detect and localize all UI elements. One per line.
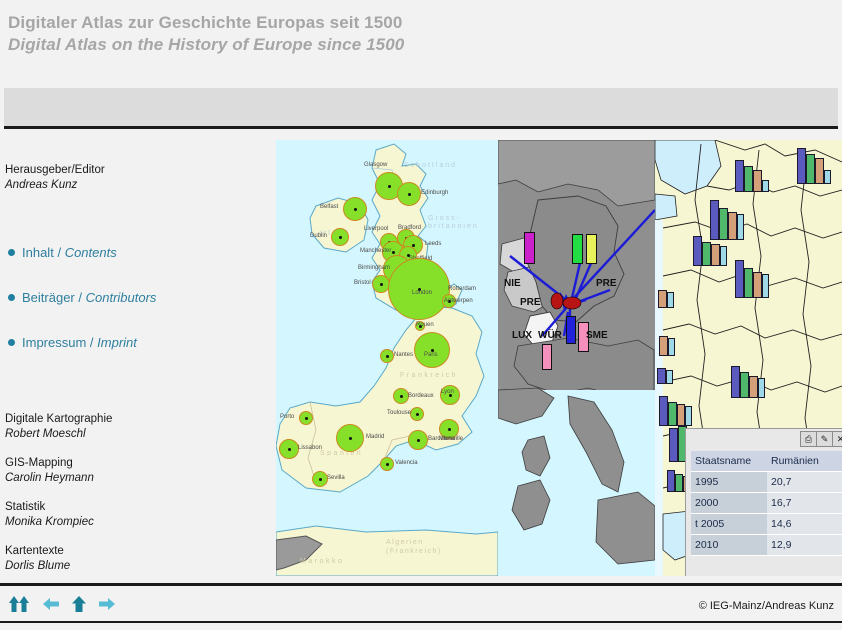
sidebar-item-contributors-sep: / (78, 290, 82, 305)
table-cell-year: 2010 (691, 535, 767, 556)
city-label-antwerpen: Antwerpen (444, 298, 473, 304)
credit-statistics: Statistik Monika Krompiec (5, 500, 94, 530)
table-col-header-value: Rumänien (767, 451, 842, 472)
map-stage[interactable]: Schottland Gross-britannien Irland Frank… (276, 140, 842, 576)
sidebar-item-imprint-label-en: Imprint (97, 335, 137, 350)
flow-flag-pink-2[interactable] (542, 344, 552, 370)
city-label-london: London (412, 290, 432, 296)
region-code-pre-east: PRE (596, 278, 617, 289)
table-header-row: Staatsname Rumänien (691, 451, 842, 472)
region-label-scotland: Schottland (404, 162, 457, 169)
region-code-wur: WÜR (538, 330, 562, 341)
city-symbol-sevilla[interactable] (312, 471, 328, 487)
city-symbol-nantes[interactable] (380, 349, 394, 363)
city-symbol-toulouse[interactable] (410, 407, 424, 421)
bar-cluster-9[interactable] (731, 366, 765, 398)
sidebar-item-imprint-sep: / (90, 335, 94, 350)
region-code-pre-west: PRE (520, 297, 541, 308)
sidebar-item-imprint-label-de: Impressum (22, 335, 86, 350)
credit-role: Statistik (5, 500, 94, 515)
credit-name: Andreas Kunz (5, 178, 105, 193)
credit-gis-mapping: GIS-Mapping Carolin Heymann (5, 456, 94, 486)
table-cell-value: 12,9 (767, 535, 842, 556)
credit-role: Kartentexte (5, 544, 70, 559)
page-title-en: Digital Atlas on the History of Europe s… (8, 35, 404, 55)
statistics-table: Staatsname Rumänien 1995 20,7 2000 16,7 … (691, 451, 842, 556)
city-label-toulouse: Toulouse (387, 410, 411, 416)
home-double-up-arrow-icon[interactable] (8, 594, 32, 614)
map-layer-west-europe[interactable]: Schottland Gross-britannien Irland Frank… (276, 140, 498, 576)
city-label-bordeaux: Bordeaux (408, 393, 434, 399)
table-row[interactable]: 1995 20,7 (691, 472, 842, 493)
table-cell-value: 16,7 (767, 493, 842, 514)
footer-bottom-rule (0, 621, 842, 623)
bar-cluster-6[interactable] (658, 290, 674, 308)
sidebar-item-contributors-label-en: Contributors (86, 290, 157, 305)
region-label-great-britain: Gross-britannien (428, 215, 468, 231)
city-label-rotterdam: Rotterdam (448, 286, 476, 292)
flow-flag-magenta[interactable] (524, 232, 535, 264)
table-row[interactable]: t 2005 14,6 (691, 514, 842, 535)
back-left-arrow-icon[interactable] (41, 594, 61, 614)
bullet-dot-icon (8, 249, 15, 256)
sidebar-item-contents-label-de: Inhalt (22, 245, 54, 260)
table-cell-year: t 2005 (691, 514, 767, 535)
city-label-paris: Paris (424, 352, 438, 358)
bullet-dot-icon (8, 339, 15, 346)
city-symbol-london[interactable] (388, 258, 450, 320)
credit-editor: Herausgeber/Editor Andreas Kunz (5, 163, 105, 193)
region-label-spain: Spanien (320, 450, 363, 457)
sidebar-item-contents-label-en: Contents (65, 245, 117, 260)
flow-flag-blue[interactable] (566, 316, 576, 344)
city-label-manchester: Manchester (360, 248, 391, 254)
city-symbol-barcelona[interactable] (408, 430, 428, 450)
city-symbol-lissabon[interactable] (279, 439, 299, 459)
credit-name: Carolin Heymann (5, 471, 94, 486)
bar-cluster-2[interactable] (797, 148, 831, 184)
table-row[interactable]: 2010 12,9 (691, 535, 842, 556)
city-label-birmingham: Birmingham (358, 265, 390, 271)
credit-role: Digitale Kartographie (5, 412, 112, 427)
sidebar-item-contents[interactable]: Inhalt / Contents (8, 245, 117, 260)
print-icon[interactable]: ⎙ (800, 431, 817, 447)
city-symbol-valencia[interactable] (380, 457, 394, 471)
bar-cluster-4[interactable] (693, 236, 727, 266)
city-label-bradford: Bradford (398, 225, 421, 231)
city-symbol-madrid[interactable] (336, 424, 364, 452)
copyright-text: © IEG-Mainz/Andreas Kunz (699, 600, 834, 612)
forward-right-arrow-icon[interactable] (97, 594, 117, 614)
credit-cartography: Digitale Kartographie Robert Moeschl (5, 412, 112, 442)
sidebar-item-contributors-label-de: Beiträger (22, 290, 75, 305)
flow-flag-green[interactable] (572, 234, 583, 264)
table-cell-value: 20,7 (767, 472, 842, 493)
credit-map-texts: Kartentexte Dorlis Blume (5, 544, 70, 574)
city-label-lissabon: Lissabon (298, 445, 322, 451)
table-cell-value: 14,6 (767, 514, 842, 535)
city-symbol-lyon[interactable] (440, 385, 460, 405)
city-label-dublin: Dublin (310, 233, 327, 239)
city-symbol-bordeaux[interactable] (393, 388, 409, 404)
city-symbol-edinburgh[interactable] (397, 182, 421, 206)
credit-name: Monika Krompiec (5, 515, 94, 530)
city-symbol-paris[interactable] (414, 332, 450, 368)
city-label-leeds: Leeds (425, 241, 441, 247)
credit-name: Dorlis Blume (5, 559, 70, 574)
city-label-edinburgh: Edinburgh (421, 190, 448, 196)
sidebar: Herausgeber/Editor Andreas Kunz Inhalt /… (0, 131, 276, 580)
data-table-popup[interactable]: ⎙ ✎ ✕ Staatsname Rumänien 1995 20,7 2000… (685, 428, 842, 576)
city-label-lyon: Lyon (441, 389, 454, 395)
central-europe-basemap (498, 140, 655, 576)
credit-role: GIS-Mapping (5, 456, 94, 471)
city-label-rouen: Rouen (416, 322, 434, 328)
pin-icon[interactable]: ✎ (816, 431, 833, 447)
credit-name: Robert Moeschl (5, 427, 112, 442)
table-col-header-key: Staatsname (691, 451, 767, 472)
header-gray-band (4, 88, 838, 129)
map-layer-central-europe-flows[interactable]: NIE PRE LUX PRE SME WÜR (498, 140, 655, 576)
table-cell-year: 2000 (691, 493, 767, 514)
city-label-liverpool: Liverpool (364, 226, 388, 232)
popup-toolbar[interactable]: ⎙ ✎ ✕ (801, 431, 842, 447)
footer-navigation[interactable] (8, 594, 117, 614)
bullet-dot-icon (8, 294, 15, 301)
city-symbol-belfast[interactable] (343, 197, 367, 221)
city-symbol-dublin[interactable] (331, 228, 349, 246)
region-code-lux: LUX (512, 330, 532, 341)
region-label-france: Frankreich (400, 372, 458, 379)
bar-cluster-8[interactable] (657, 368, 673, 384)
bar-cluster-10[interactable] (659, 396, 692, 426)
close-icon[interactable]: ✕ (832, 431, 842, 447)
sidebar-item-imprint[interactable]: Impressum / Imprint (8, 335, 137, 350)
bar-cluster-5[interactable] (735, 260, 769, 298)
region-label-algeria: Algerien (Frankreich) (386, 538, 452, 556)
bar-cluster-1[interactable] (735, 160, 769, 192)
city-label-sevilla: Sevilla (327, 475, 345, 481)
sidebar-item-contents-sep: / (57, 245, 61, 260)
credit-role: Herausgeber/Editor (5, 163, 105, 178)
city-symbol-porto[interactable] (299, 411, 313, 425)
city-label-porto: Porto (280, 414, 294, 420)
up-arrow-icon[interactable] (70, 594, 88, 614)
city-label-belfast: Belfast (320, 204, 338, 210)
flow-flag-yellow[interactable] (586, 234, 597, 264)
page-title-de: Digitaler Atlas zur Geschichte Europas s… (8, 13, 402, 33)
table-cell-year: 1995 (691, 472, 767, 493)
sidebar-item-contributors[interactable]: Beiträger / Contributors (8, 290, 156, 305)
city-label-barcelona: Barcelona (428, 436, 455, 442)
page-header: Digitaler Atlas zur Geschichte Europas s… (0, 0, 842, 88)
region-code-sme: SME (586, 330, 608, 341)
table-row[interactable]: 2000 16,7 (691, 493, 842, 514)
bar-cluster-7[interactable] (659, 336, 675, 356)
city-label-valencia: Valencia (395, 460, 418, 466)
city-label-bristol: Bristol (354, 280, 371, 286)
bar-cluster-3[interactable] (710, 200, 744, 240)
region-label-morocco: Marokko (300, 558, 344, 565)
city-label-nantes: Nantes (394, 352, 413, 358)
city-label-madrid: Madrid (366, 434, 384, 440)
city-label-glasgow: Glasgow (364, 162, 387, 168)
region-code-nie: NIE (504, 278, 521, 289)
